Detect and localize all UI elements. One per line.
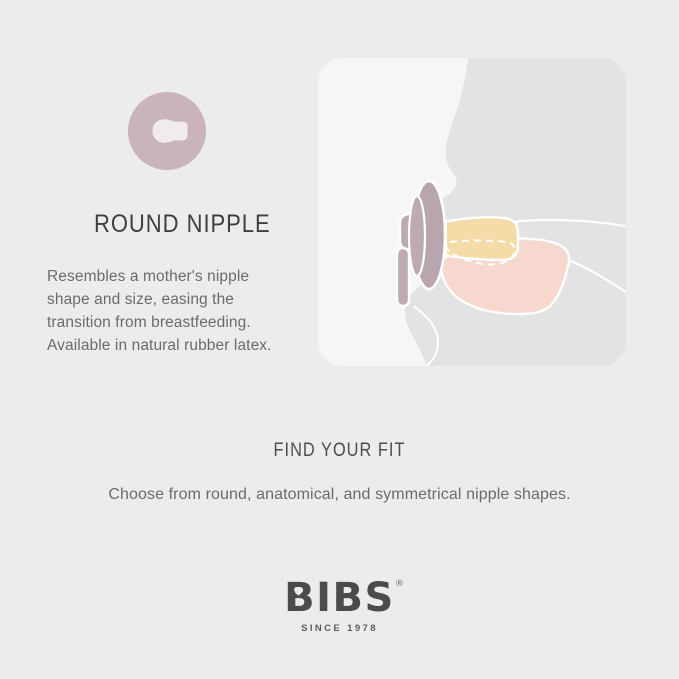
feature-title: ROUND NIPPLE [94, 210, 272, 239]
round-nipple-shape-icon [145, 118, 189, 144]
round-nipple-badge [128, 92, 206, 170]
pacifier-shield-inner [409, 196, 425, 276]
product-feature-page: ROUND NIPPLE Resembles a mother's nipple… [0, 0, 679, 679]
find-your-fit-title: FIND YOUR FIT [48, 440, 632, 462]
pacifier-handle-stem [397, 248, 409, 306]
find-your-fit-block: FIND YOUR FIT Choose from round, anatomi… [0, 440, 679, 504]
find-your-fit-subtitle: Choose from round, anatomical, and symme… [0, 486, 679, 504]
pacifier-in-mouth-illustration [318, 58, 626, 366]
feature-top-section: ROUND NIPPLE Resembles a mother's nipple… [0, 0, 679, 400]
brand-logo: BIBS ® [284, 578, 395, 618]
feature-description: Resembles a mother's nipple shape and si… [47, 265, 292, 357]
illustration-panel [318, 58, 626, 366]
brand-name: BIBS [284, 578, 395, 618]
feature-info-column: ROUND NIPPLE Resembles a mother's nipple… [46, 60, 296, 357]
registered-trademark-icon: ® [395, 580, 404, 589]
brand-tagline: SINCE 1978 [0, 623, 679, 634]
brand-block: BIBS ® SINCE 1978 [0, 578, 679, 634]
